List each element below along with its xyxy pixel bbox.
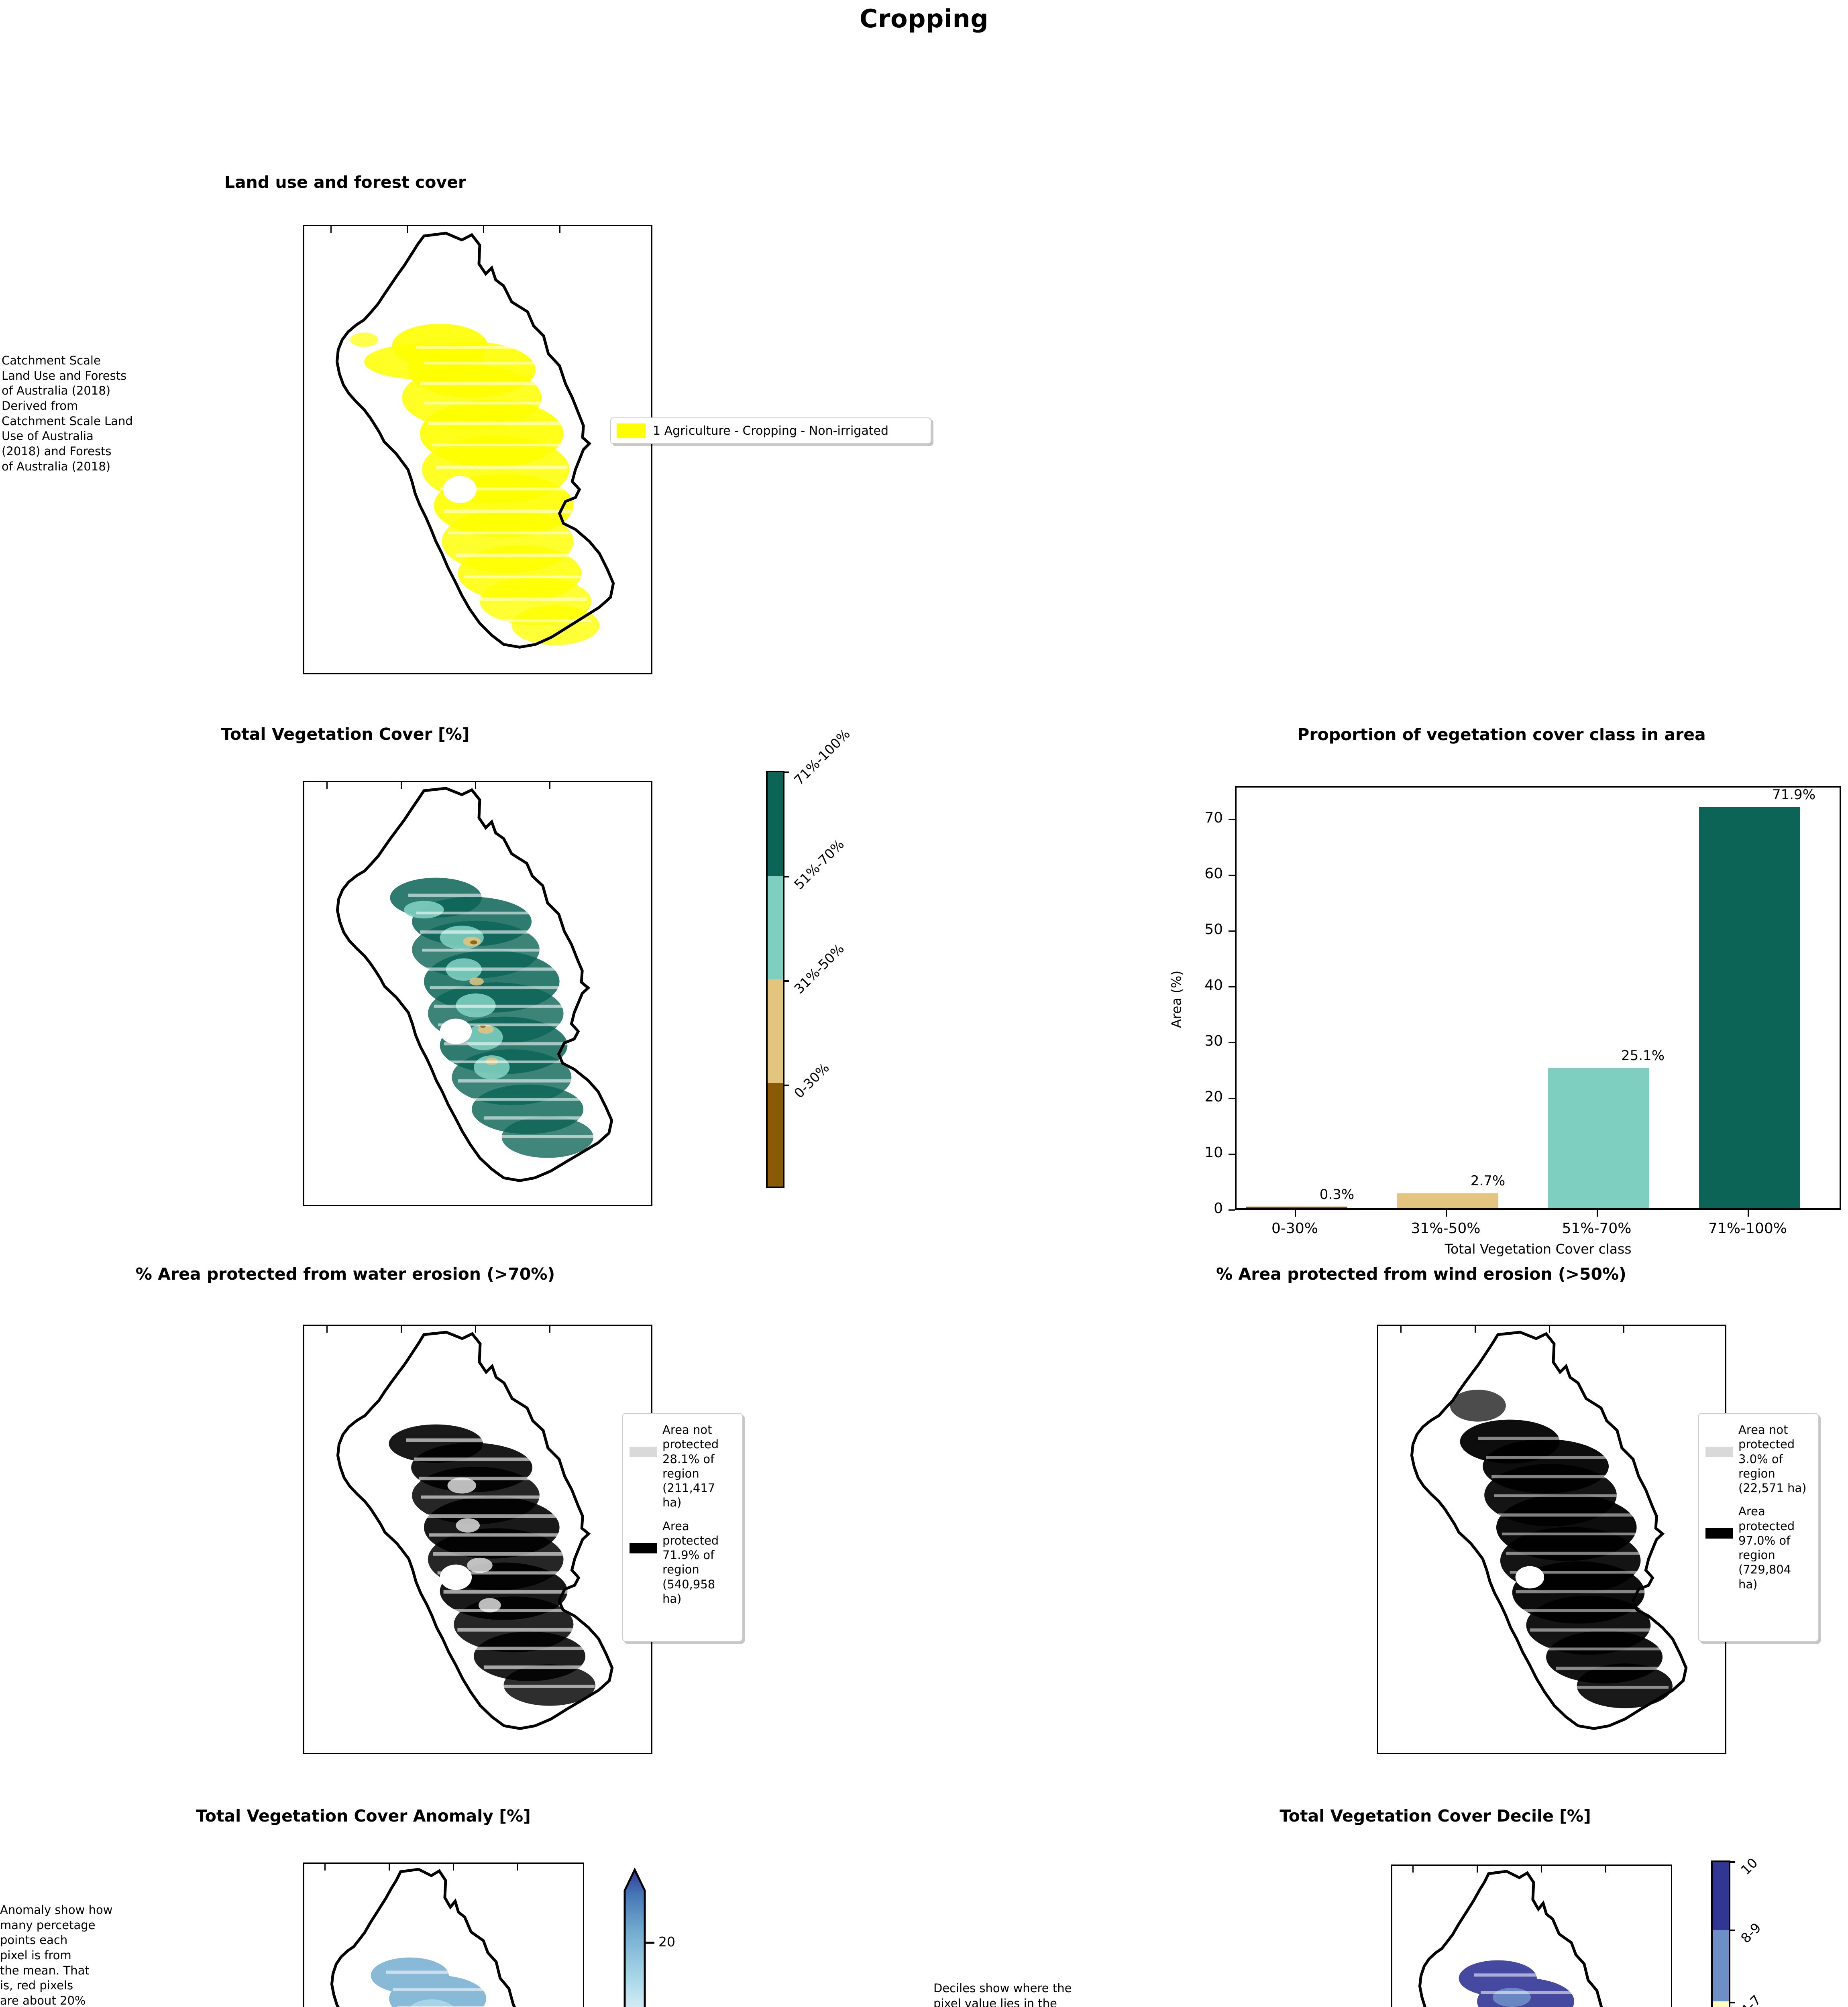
cbar-label-71-100: 71%-100% xyxy=(791,726,853,788)
catchment-outline-wind-erosion xyxy=(1378,1326,1725,1753)
chart-xtick-2 xyxy=(1597,1210,1598,1217)
chart-ytick-label-70: 70 xyxy=(1184,810,1223,826)
chart-ylabel: Area (%) xyxy=(1169,955,1184,1044)
bar-value-71-100: 71.9% xyxy=(1750,787,1838,803)
water-legend-label-protected: Area protected 71.9% of region (540,958 … xyxy=(662,1519,731,1606)
catchment-outline-water-erosion xyxy=(304,1326,651,1753)
chart-axes: 0.3% 2.7% 25.1% 71.9% xyxy=(1235,786,1841,1210)
chart-ytick-40 xyxy=(1229,986,1235,987)
decile-panel-title: Total Vegetation Cover Decile [%] xyxy=(1176,1806,1694,1826)
chart-ytick-0 xyxy=(1229,1209,1235,1211)
anomaly-explainer-note: Anomaly show how many percetage points e… xyxy=(0,1903,169,2007)
vegcover-colorbar[interactable] xyxy=(766,771,784,1188)
chart-ytick-70 xyxy=(1229,819,1235,820)
water-erosion-panel-title: % Area protected from water erosion (>70… xyxy=(72,1264,618,1284)
chart-xtick-label-51-70: 51%-70% xyxy=(1536,1220,1657,1237)
water-legend-swatch-not-protected xyxy=(630,1447,657,1457)
decile-seg-4-7 xyxy=(1713,2001,1729,2007)
cbar-label-31-50: 31%-50% xyxy=(791,941,847,997)
catchment-outline-decile xyxy=(1392,1866,1671,2007)
landuse-source-note: Catchment Scale Land Use and Forests of … xyxy=(2,353,170,474)
wind-legend-swatch-not-protected xyxy=(1705,1447,1733,1457)
water-erosion-legend[interactable]: Area not protected 28.1% of region (211,… xyxy=(622,1413,743,1642)
catchment-outline-vegcover xyxy=(304,782,651,1205)
anomaly-cbar-label-20: 20 xyxy=(658,1934,675,1950)
landuse-map[interactable] xyxy=(303,225,652,674)
chart-ytick-label-10: 10 xyxy=(1184,1144,1223,1161)
bar-value-0-30: 0.3% xyxy=(1297,1187,1377,1203)
catchment-outline-anomaly xyxy=(304,1864,583,2007)
anomaly-panel-title: Total Vegetation Cover Anomaly [%] xyxy=(104,1806,622,1826)
wind-erosion-map[interactable] xyxy=(1377,1325,1726,1754)
bar-value-51-70: 25.1% xyxy=(1599,1048,1687,1064)
landuse-legend[interactable]: 1 Agriculture - Cropping - Non-irrigated xyxy=(610,417,931,444)
chart-ytick-label-20: 20 xyxy=(1184,1089,1223,1105)
wind-erosion-panel-title: % Area protected from wind erosion (>50%… xyxy=(1148,1264,1694,1284)
decile-cbar-label-8-9: 8-9 xyxy=(1738,1920,1764,1946)
cbar-seg-71-100 xyxy=(768,772,783,876)
catchment-outline-landuse xyxy=(304,226,651,673)
chart-ytick-10 xyxy=(1229,1154,1235,1155)
bar-51-70[interactable] xyxy=(1548,1068,1649,1208)
decile-cbar-label-10: 10 xyxy=(1738,1855,1760,1878)
anomaly-colorbar[interactable]: 20 10 0 −10 −20 xyxy=(621,1862,674,2007)
chart-ytick-label-50: 50 xyxy=(1184,921,1223,938)
anomaly-map[interactable] xyxy=(303,1862,584,2007)
chart-xtick-label-0-30: 0-30% xyxy=(1235,1220,1355,1237)
wind-legend-swatch-protected xyxy=(1705,1528,1733,1539)
chart-ytick-20 xyxy=(1229,1098,1235,1099)
landuse-panel-title: Land use and forest cover xyxy=(132,173,558,192)
chart-xtick-0 xyxy=(1295,1210,1296,1217)
cbar-label-0-30: 0-30% xyxy=(791,1060,832,1101)
chart-ytick-label-40: 40 xyxy=(1184,977,1223,993)
chart-ytick-30 xyxy=(1229,1042,1235,1043)
chart-ytick-label-30: 30 xyxy=(1184,1033,1223,1049)
chart-xtick-1 xyxy=(1446,1210,1447,1217)
water-legend-swatch-protected xyxy=(630,1543,657,1553)
decile-seg-10 xyxy=(1713,1862,1729,1930)
chart-ytick-60 xyxy=(1229,875,1235,876)
decile-explainer-note: Deciles show where the pixel value lies … xyxy=(933,1981,1142,2007)
landuse-legend-swatch xyxy=(617,423,646,438)
cbar-seg-51-70 xyxy=(768,876,783,979)
vegcover-panel-title: Total Vegetation Cover [%] xyxy=(132,725,558,744)
vegcover-map[interactable] xyxy=(303,781,652,1206)
landuse-legend-label: 1 Agriculture - Cropping - Non-irrigated xyxy=(653,424,888,438)
water-legend-label-not-protected: Area not protected 28.1% of region (211,… xyxy=(662,1423,731,1510)
vegetation-proportion-chart: Proportion of vegetation cover class in … xyxy=(1156,723,1847,1256)
chart-ytick-50 xyxy=(1229,930,1235,932)
chart-ytick-label-0: 0 xyxy=(1184,1200,1223,1217)
chart-xtick-3 xyxy=(1748,1210,1749,1217)
bar-71-100[interactable] xyxy=(1699,807,1800,1208)
wind-legend-label-not-protected: Area not protected 3.0% of region (22,57… xyxy=(1738,1423,1807,1495)
wind-legend-label-protected: Area protected 97.0% of region (729,804 … xyxy=(1738,1504,1807,1592)
water-erosion-map[interactable] xyxy=(303,1325,652,1754)
chart-ytick-label-60: 60 xyxy=(1184,865,1223,882)
bar-0-30[interactable] xyxy=(1246,1207,1347,1208)
cbar-label-51-70: 51%-70% xyxy=(791,837,847,893)
cbar-seg-31-50 xyxy=(768,979,783,1083)
wind-erosion-legend[interactable]: Area not protected 3.0% of region (22,57… xyxy=(1698,1413,1819,1642)
decile-colorbar[interactable] xyxy=(1711,1860,1730,2007)
chart-xlabel: Total Vegetation Cover class xyxy=(1235,1241,1841,1257)
chart-xtick-label-71-100: 71%-100% xyxy=(1687,1220,1808,1237)
chart-xtick-label-31-50: 31%-50% xyxy=(1385,1220,1506,1237)
decile-map[interactable] xyxy=(1391,1865,1672,2007)
chart-title: Proportion of vegetation cover class in … xyxy=(1156,725,1847,744)
page-title: Cropping xyxy=(0,4,1848,33)
decile-cbar-label-4-7: 4-7 xyxy=(1738,1992,1764,2007)
bar-value-31-50: 2.7% xyxy=(1448,1173,1528,1189)
cbar-seg-0-30 xyxy=(768,1083,783,1187)
bar-31-50[interactable] xyxy=(1397,1193,1498,1209)
decile-seg-8-9 xyxy=(1713,1930,1729,2002)
